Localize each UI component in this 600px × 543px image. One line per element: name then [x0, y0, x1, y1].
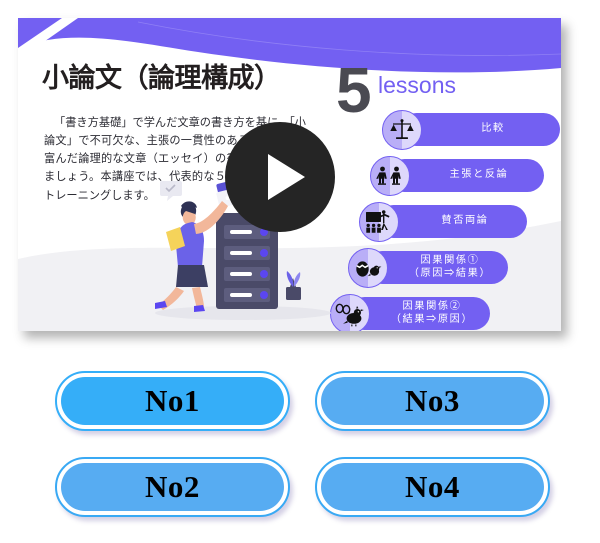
lesson-label: 因果関係① （原因⇒結果） — [409, 255, 492, 281]
lessons-word: lessons — [378, 72, 456, 99]
answer-button-inner: No2 — [61, 463, 284, 511]
chicken-eggs-icon — [330, 294, 370, 331]
answer-button-inner: No3 — [321, 377, 544, 425]
lesson-item: 因果関係② （結果⇒原因） — [330, 294, 490, 331]
lesson-pill: 比較 — [400, 113, 560, 146]
lesson-pill: 主張と反論 — [388, 159, 544, 192]
play-button[interactable] — [225, 122, 335, 232]
answer-button-no1[interactable]: No1 — [55, 371, 290, 431]
answer-label: No2 — [145, 469, 200, 505]
play-triangle-icon — [268, 154, 305, 200]
lesson-item: 賛否両論 — [359, 202, 527, 242]
answer-button-grid: No1 No3 No2 No4 — [55, 371, 555, 517]
answer-button-no3[interactable]: No3 — [315, 371, 550, 431]
lessons-count: 5 — [336, 64, 372, 116]
slide-title: 小論文（論理構成） — [42, 56, 281, 95]
lesson-pill: 賛否両論 — [377, 205, 527, 238]
answer-label: No4 — [405, 469, 460, 505]
lesson-label: 因果関係② （結果⇒原因） — [391, 301, 474, 327]
answer-label: No1 — [145, 383, 200, 419]
lesson-item: 因果関係① （原因⇒結果） — [348, 248, 508, 288]
answer-label: No3 — [405, 383, 460, 419]
egg-chick-icon — [348, 248, 388, 288]
scales-icon — [382, 110, 422, 150]
answer-button-no4[interactable]: No4 — [315, 457, 550, 517]
debate-people-icon — [370, 156, 410, 196]
answer-button-inner: No4 — [321, 463, 544, 511]
lesson-item: 比較 — [382, 110, 560, 150]
answer-button-no2[interactable]: No2 — [55, 457, 290, 517]
lesson-label: 比較 — [481, 123, 505, 136]
answer-button-inner: No1 — [61, 377, 284, 425]
lesson-item: 主張と反論 — [370, 156, 544, 196]
video-slide-card[interactable]: 小論文（論理構成） 「書き方基礎」で学んだ文章の書き方を基に、「小論文」で不可欠… — [18, 18, 561, 331]
presentation-audience-icon — [359, 202, 399, 242]
lesson-list: 比較 主張と反論 — [348, 110, 560, 331]
lesson-label: 賛否両論 — [441, 215, 488, 228]
lesson-label: 主張と反論 — [450, 169, 509, 182]
